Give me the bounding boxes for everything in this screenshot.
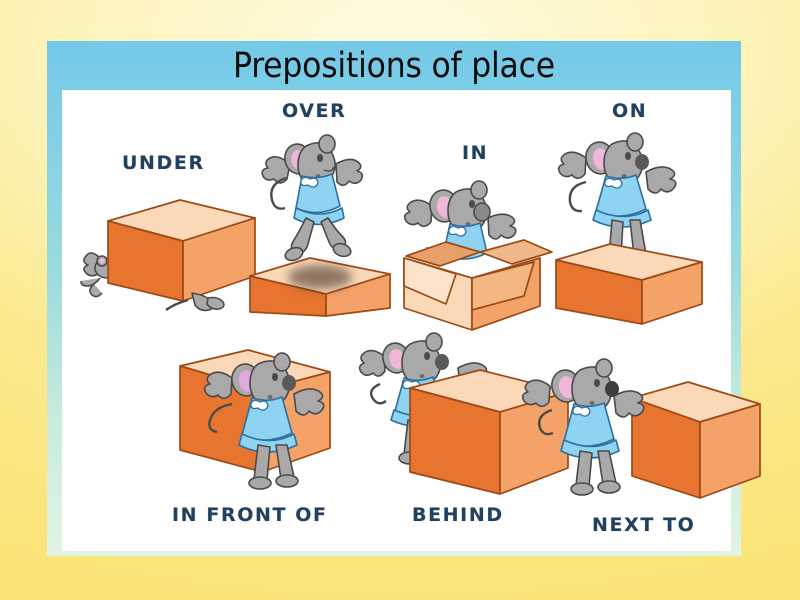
box-on — [556, 244, 702, 324]
illustration-board: UNDER — [62, 90, 731, 551]
label-over: OVER — [282, 100, 346, 122]
label-under: UNDER — [122, 152, 205, 174]
figure-on[interactable]: ON — [542, 100, 732, 330]
illustration-next-to — [528, 348, 748, 510]
figure-in-front-of[interactable]: IN FRONT OF — [154, 342, 374, 537]
box-next-to — [632, 382, 760, 498]
illustration-in-front-of — [154, 342, 374, 502]
label-behind: BEHIND — [412, 504, 504, 526]
mouse-next-to — [523, 359, 644, 495]
slide-frame: Prepositions of place UNDER — [47, 41, 741, 556]
drop-shadow-over — [288, 265, 352, 289]
page-title: Prepositions of place — [47, 41, 741, 91]
label-on: ON — [612, 100, 647, 122]
label-in-front-of: IN FRONT OF — [172, 504, 328, 526]
illustration-on — [542, 128, 732, 328]
label-in: IN — [462, 142, 488, 164]
box-in-open — [404, 240, 552, 330]
mouse-over — [262, 135, 362, 263]
label-next-to: NEXT TO — [592, 514, 695, 536]
figure-next-to[interactable]: NEXT TO — [528, 348, 748, 543]
